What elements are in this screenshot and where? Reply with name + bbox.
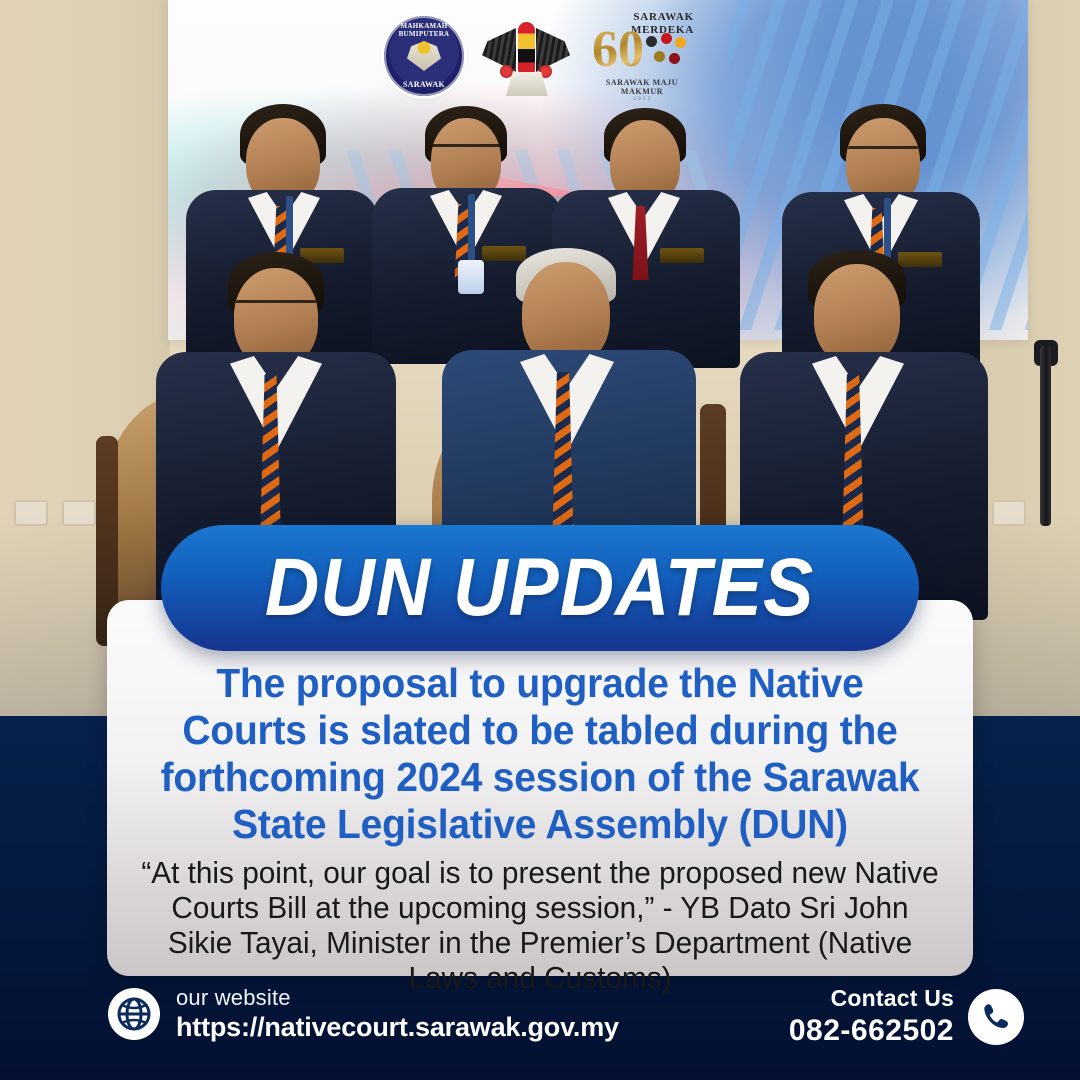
merdeka-subtitle-small: 2 0 2 3 <box>588 97 696 102</box>
banner-title: DUN UPDATES <box>265 547 814 629</box>
microphone-stand <box>1040 346 1051 526</box>
crest-body <box>518 22 535 74</box>
merdeka-people-figures <box>646 36 688 70</box>
website-block[interactable]: our website https://nativecourt.sarawak.… <box>108 987 619 1041</box>
sarawak-coat-of-arms-icon <box>480 12 572 100</box>
contact-text: Contact Us 082-662502 <box>789 987 954 1046</box>
crest-base <box>506 72 548 96</box>
header-logo-row: MAHKAMAH BUMIPUTERA SARAWAK SARAWAK MERD… <box>0 6 1080 106</box>
social-media-poster: MAHKAMAH BUMIPUTERA SARAWAK SARAWAK MERD… <box>0 0 1080 1080</box>
merdeka-subtitle: SARAWAK MAJU MAKMUR <box>588 78 696 96</box>
mahkamah-bumiputera-sarawak-seal-icon: MAHKAMAH BUMIPUTERA SARAWAK <box>384 16 464 96</box>
wall-socket <box>62 500 96 526</box>
footer-bar: our website https://nativecourt.sarawak.… <box>0 975 1080 1080</box>
phone-icon <box>968 989 1024 1045</box>
globe-icon <box>108 988 160 1040</box>
crest-flower-left <box>500 65 513 78</box>
merdeka-numeral: 60 <box>592 24 644 76</box>
dun-updates-banner: DUN UPDATES <box>161 525 919 651</box>
quote-text: “At this point, our goal is to present t… <box>139 855 942 995</box>
website-label: our website <box>176 987 619 1009</box>
headline-text: The proposal to upgrade the Native Court… <box>151 660 930 848</box>
crest-wing-left <box>482 28 516 72</box>
seal-top-text: MAHKAMAH BUMIPUTERA <box>384 22 464 38</box>
seal-bottom-text: SARAWAK <box>384 80 464 89</box>
sarawak-merdeka-60-icon: SARAWAK MERDEKA 60 SARAWAK MAJU MAKMUR 2… <box>588 10 696 102</box>
contact-number[interactable]: 082-662502 <box>789 1016 954 1046</box>
website-text: our website https://nativecourt.sarawak.… <box>176 987 619 1041</box>
wall-socket <box>992 500 1026 526</box>
website-url[interactable]: https://nativecourt.sarawak.gov.my <box>176 1014 619 1041</box>
contact-label: Contact Us <box>789 987 954 1010</box>
wall-socket <box>14 500 48 526</box>
contact-block[interactable]: Contact Us 082-662502 <box>789 987 1024 1046</box>
